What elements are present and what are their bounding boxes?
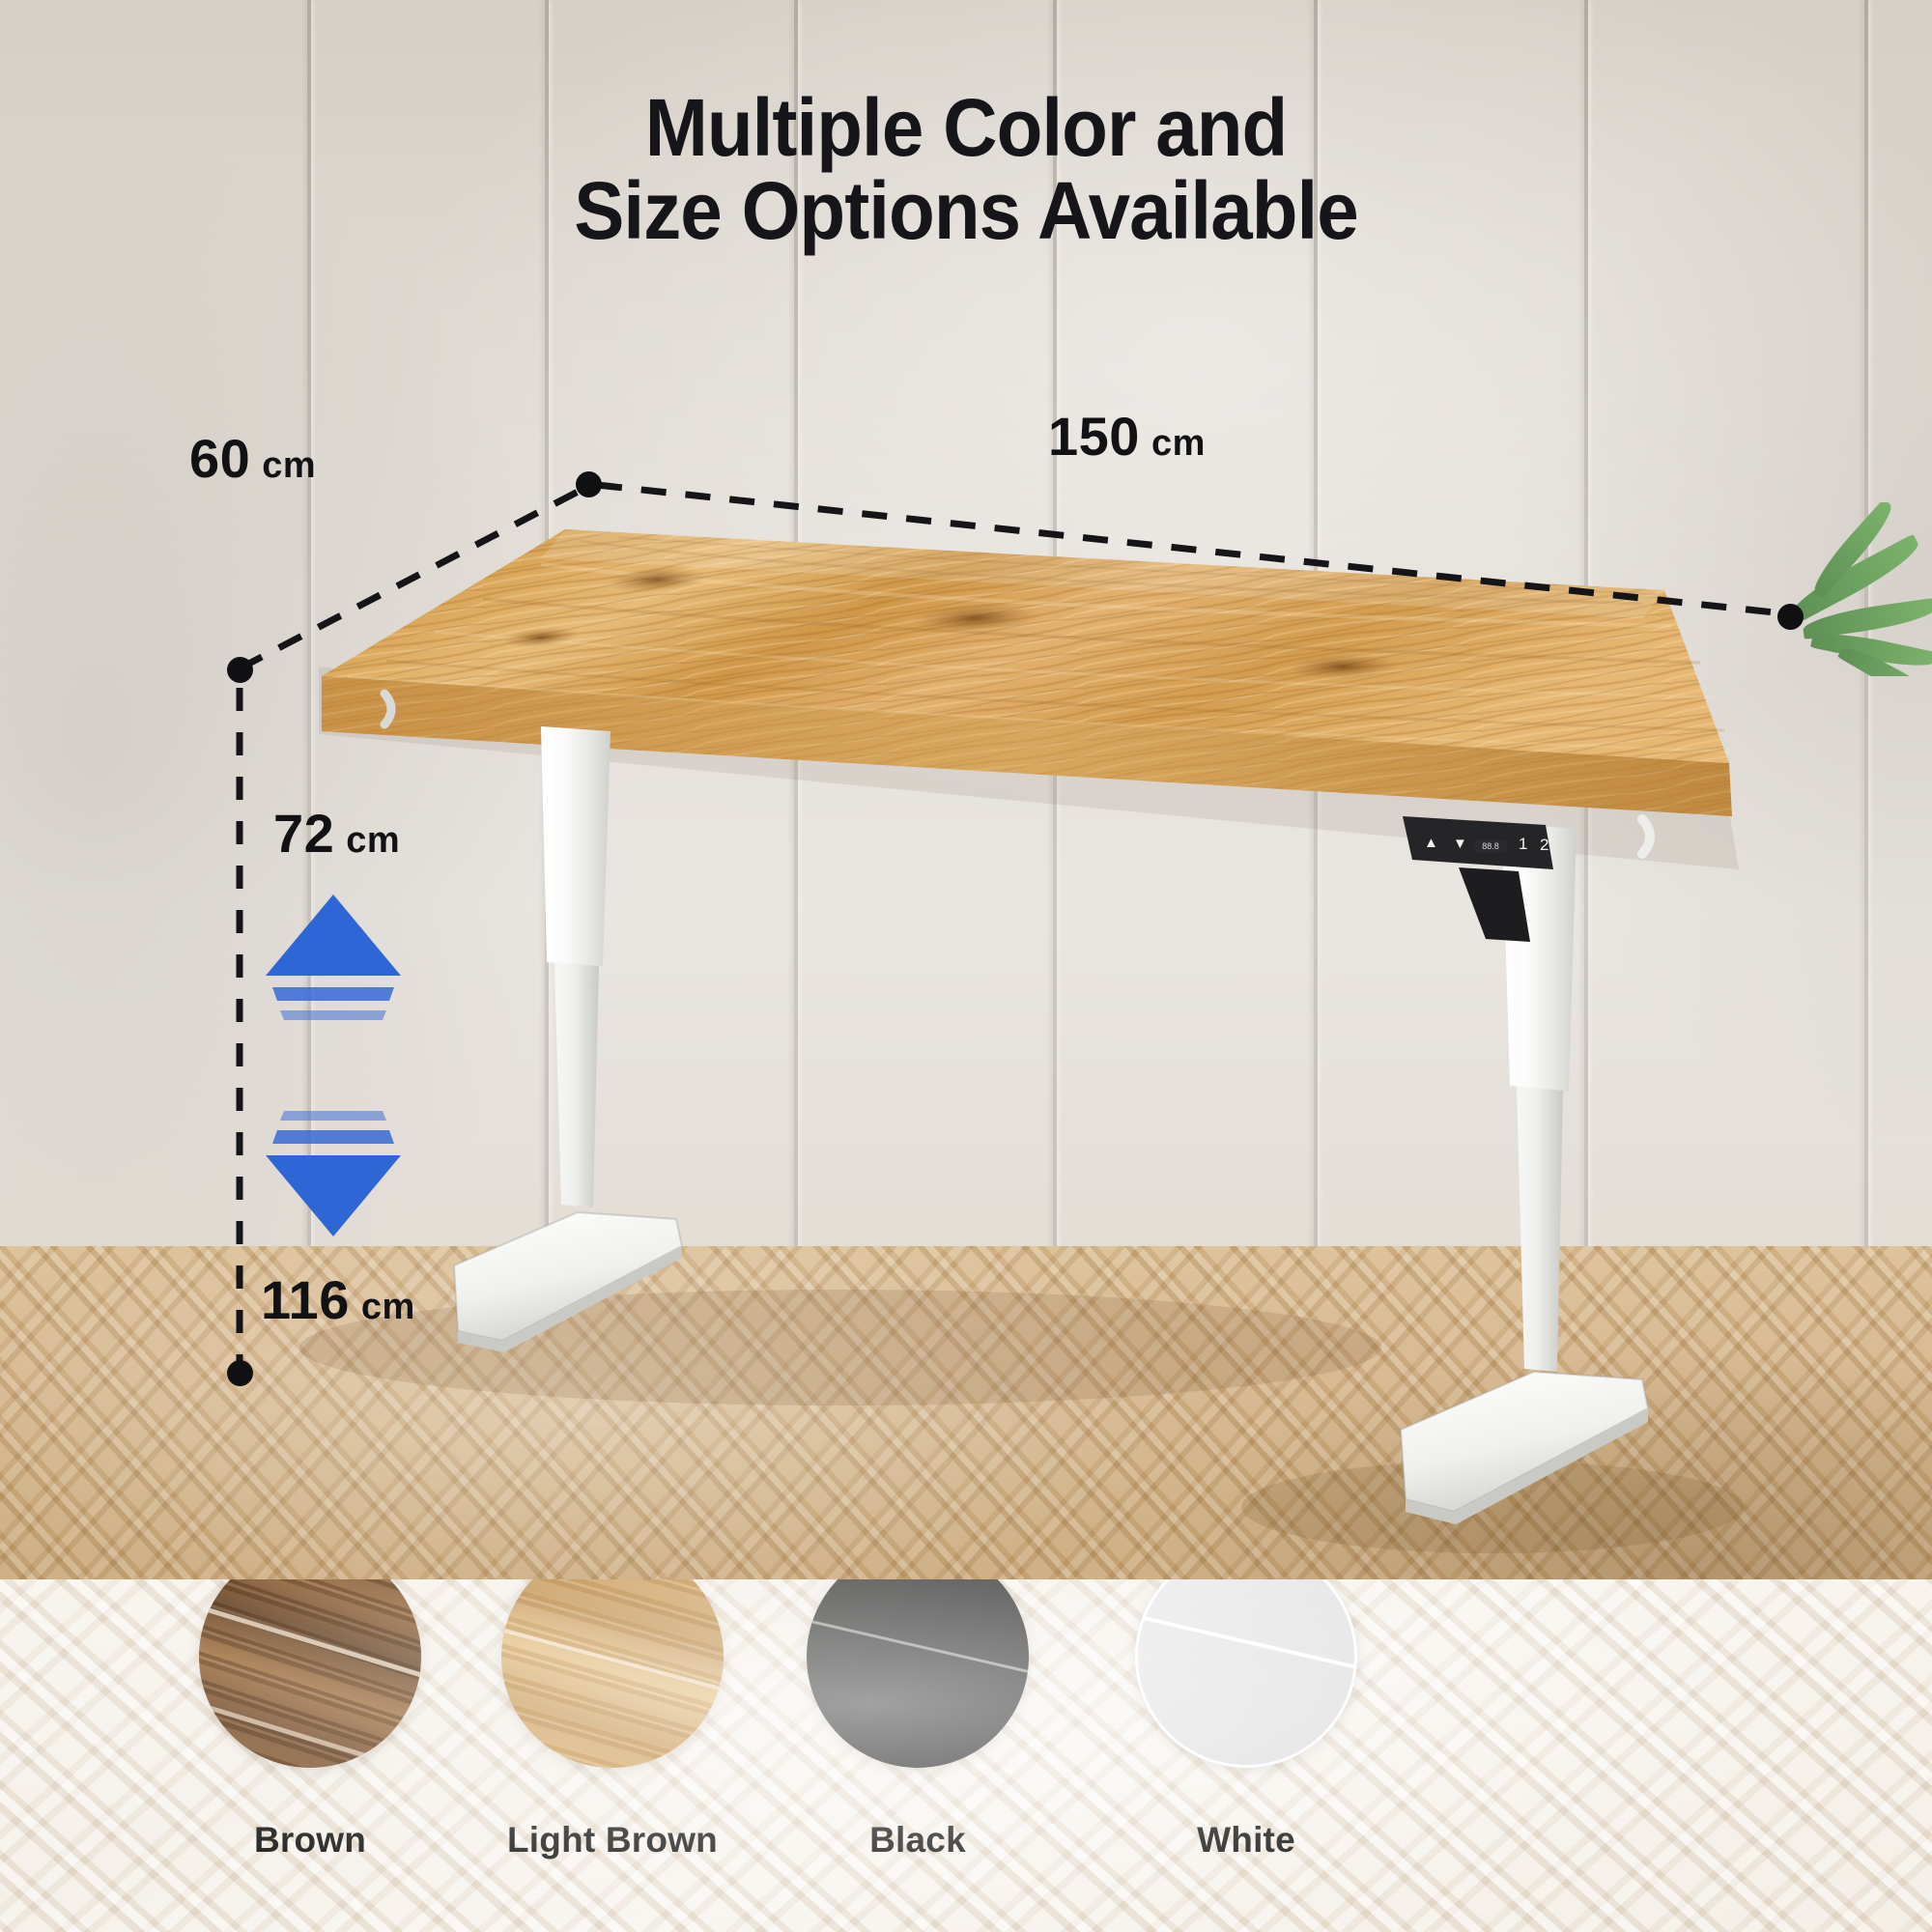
swatch-label-black: Black — [802, 1820, 1034, 1861]
product-infographic: ▲ ▼ 88.8 1 2 Multiple Color and Si — [0, 0, 1932, 1932]
plank-seam — [807, 1615, 1029, 1683]
dimension-anchor-dot — [227, 657, 253, 683]
title-line-1: Multiple Color and — [68, 87, 1864, 170]
color-options-band: Brown Light Brown Black White — [0, 1579, 1932, 1932]
depth-unit: cm — [262, 445, 316, 486]
desk-control-panel[interactable]: ▲ ▼ 88.8 1 2 — [1403, 814, 1557, 868]
brown-swatch-circle[interactable] — [199, 1579, 421, 1768]
dimension-anchor-dot — [227, 1360, 253, 1386]
height-display: 88.8 — [1474, 839, 1507, 853]
raise-desk-icon[interactable]: ▲ — [1424, 836, 1438, 850]
dimension-anchor-dot — [576, 471, 602, 497]
swatch-option-light-brown[interactable]: Light Brown — [497, 1579, 728, 1861]
swatch-option-white[interactable]: White — [1130, 1579, 1362, 1861]
title-line-2: Size Options Available — [68, 170, 1864, 253]
swatch-option-brown[interactable]: Brown — [194, 1579, 426, 1861]
depth-dimension-label: 60cm — [189, 432, 316, 486]
swatch-option-black[interactable]: Black — [802, 1579, 1034, 1861]
swatch-label-white: White — [1130, 1820, 1362, 1861]
swatch-label-light-brown: Light Brown — [497, 1820, 728, 1861]
width-unit: cm — [1151, 423, 1206, 464]
max-height-unit: cm — [361, 1287, 415, 1327]
preset-2-button[interactable]: 2 — [1540, 837, 1548, 853]
min-height-unit: cm — [346, 820, 400, 861]
light-brown-swatch-circle[interactable] — [501, 1579, 724, 1768]
preset-1-button[interactable]: 1 — [1519, 836, 1527, 852]
plank-seam — [501, 1621, 724, 1705]
min-height-value: 72 — [273, 803, 334, 864]
max-height-dimension-label: 116cm — [261, 1273, 415, 1327]
lower-desk-icon[interactable]: ▼ — [1453, 837, 1467, 851]
width-dimension-label: 150cm — [1048, 410, 1206, 464]
white-swatch-circle[interactable] — [1135, 1579, 1357, 1768]
dimension-anchor-dot — [1777, 604, 1804, 630]
max-height-value: 116 — [261, 1269, 350, 1330]
plank-seam — [199, 1599, 421, 1693]
page-title: Multiple Color and Size Options Availabl… — [68, 87, 1864, 252]
color-swatch-row: Brown Light Brown Black White — [0, 1579, 1932, 1932]
black-swatch-circle[interactable] — [807, 1579, 1029, 1768]
plank-seam — [1135, 1610, 1357, 1679]
min-height-dimension-label: 72cm — [273, 807, 400, 861]
swatch-label-brown: Brown — [194, 1820, 426, 1861]
plank-seam — [199, 1696, 421, 1768]
depth-value: 60 — [189, 428, 250, 489]
width-value: 150 — [1048, 406, 1140, 467]
